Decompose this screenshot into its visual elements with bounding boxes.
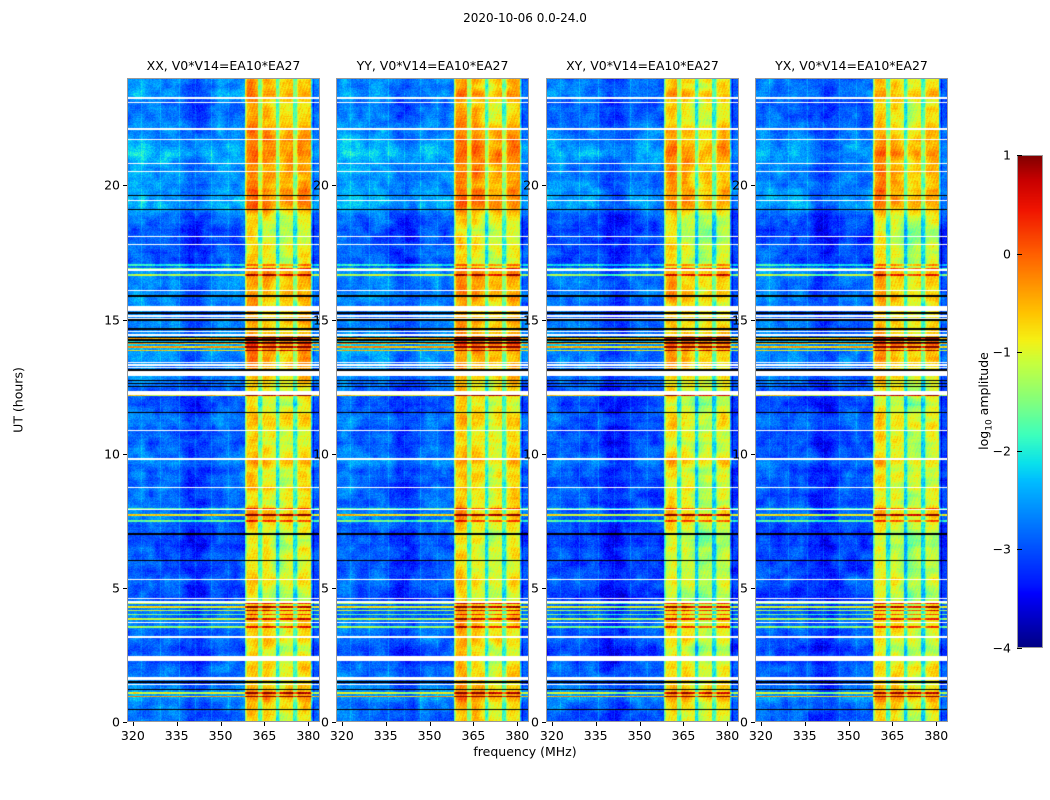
y-tick-label: 20 <box>104 178 120 193</box>
axes-frame <box>127 78 320 722</box>
x-tick-mark <box>221 722 222 726</box>
colorbar-tick-label: −4 <box>993 641 1011 656</box>
figure-canvas: 2020-10-06 0.0-24.0 UT (hours) frequency… <box>0 0 1050 800</box>
x-tick-mark <box>640 722 641 726</box>
y-tick-label: 15 <box>104 312 120 327</box>
panel-xx[interactable]: XX, V0*V14=EA10*EA2732033535036538005101… <box>127 78 320 722</box>
x-tick-mark <box>727 722 728 726</box>
x-tick-mark <box>849 722 850 726</box>
colorbar-tick-label: −3 <box>993 542 1011 557</box>
colorbar-axis-label: log10 amplitude <box>976 352 995 450</box>
y-tick-mark <box>751 320 755 321</box>
y-tick-mark <box>123 722 127 723</box>
y-tick-mark <box>332 454 336 455</box>
x-tick-label: 320 <box>121 728 145 743</box>
panel-yx[interactable]: YX, V0*V14=EA10*EA2732033535036538005101… <box>755 78 948 722</box>
y-tick-mark <box>751 185 755 186</box>
x-tick-label: 350 <box>209 728 233 743</box>
axes-frame <box>755 78 948 722</box>
y-tick-mark <box>332 185 336 186</box>
x-tick-mark <box>133 722 134 726</box>
y-tick-label: 20 <box>732 178 748 193</box>
colorbar-tick-mark <box>1017 254 1022 255</box>
panel-title-yx: YX, V0*V14=EA10*EA27 <box>755 58 948 73</box>
y-tick-mark <box>542 320 546 321</box>
y-tick-mark <box>123 320 127 321</box>
axes-frame <box>546 78 739 722</box>
y-tick-mark <box>751 588 755 589</box>
colorbar-tick-mark <box>1017 352 1022 353</box>
colorbar-tick-label: −1 <box>993 345 1011 360</box>
x-tick-label: 335 <box>584 728 608 743</box>
colorbar-tick-label: −2 <box>993 443 1011 458</box>
panel-title-xy: XY, V0*V14=EA10*EA27 <box>546 58 739 73</box>
y-tick-mark <box>332 320 336 321</box>
axes-frame <box>336 78 529 722</box>
y-tick-mark <box>332 588 336 589</box>
y-tick-label: 10 <box>732 446 748 461</box>
y-tick-label: 15 <box>732 312 748 327</box>
colorbar-tick-mark <box>1017 549 1022 550</box>
panel-title-yy: YY, V0*V14=EA10*EA27 <box>336 58 529 73</box>
y-tick-label: 10 <box>313 446 329 461</box>
y-tick-label: 0 <box>740 715 748 730</box>
y-tick-label: 0 <box>112 715 120 730</box>
colorbar-tick-label: 1 <box>1003 148 1011 163</box>
x-tick-mark <box>596 722 597 726</box>
colorbar-frame <box>1017 155 1043 648</box>
x-tick-label: 335 <box>165 728 189 743</box>
y-tick-label: 0 <box>321 715 329 730</box>
x-tick-mark <box>552 722 553 726</box>
x-tick-label: 350 <box>837 728 861 743</box>
colorbar-label-tail: amplitude <box>976 352 991 419</box>
y-tick-label: 10 <box>523 446 539 461</box>
y-tick-mark <box>542 588 546 589</box>
y-tick-mark <box>542 454 546 455</box>
y-tick-label: 5 <box>740 580 748 595</box>
colorbar-tick-label: 0 <box>1003 246 1011 261</box>
x-tick-label: 350 <box>418 728 442 743</box>
y-tick-label: 5 <box>531 580 539 595</box>
y-tick-mark <box>123 588 127 589</box>
x-tick-mark <box>308 722 309 726</box>
x-tick-label: 335 <box>374 728 398 743</box>
x-tick-label: 320 <box>330 728 354 743</box>
y-tick-label: 5 <box>321 580 329 595</box>
y-tick-label: 0 <box>531 715 539 730</box>
y-tick-mark <box>751 454 755 455</box>
x-tick-label: 365 <box>881 728 905 743</box>
x-tick-mark <box>264 722 265 726</box>
y-tick-mark <box>542 185 546 186</box>
y-tick-label: 20 <box>313 178 329 193</box>
x-tick-mark <box>386 722 387 726</box>
x-tick-label: 380 <box>715 728 739 743</box>
x-tick-label: 350 <box>628 728 652 743</box>
y-tick-label: 15 <box>313 312 329 327</box>
x-tick-label: 380 <box>296 728 320 743</box>
x-tick-mark <box>430 722 431 726</box>
x-tick-mark <box>473 722 474 726</box>
x-tick-label: 380 <box>924 728 948 743</box>
x-tick-mark <box>805 722 806 726</box>
y-tick-mark <box>751 722 755 723</box>
x-tick-mark <box>892 722 893 726</box>
colorbar[interactable]: −4−3−2−101 <box>1017 155 1043 648</box>
colorbar-label-main: log <box>976 431 991 450</box>
y-tick-mark <box>332 722 336 723</box>
x-tick-label: 320 <box>749 728 773 743</box>
x-tick-mark <box>177 722 178 726</box>
x-tick-label: 365 <box>462 728 486 743</box>
y-tick-label: 20 <box>523 178 539 193</box>
x-tick-mark <box>683 722 684 726</box>
colorbar-tick-mark <box>1017 155 1022 156</box>
x-tick-mark <box>761 722 762 726</box>
x-tick-label: 320 <box>540 728 564 743</box>
colorbar-tick-mark <box>1017 648 1022 649</box>
x-tick-label: 335 <box>793 728 817 743</box>
y-tick-label: 10 <box>104 446 120 461</box>
y-tick-label: 15 <box>523 312 539 327</box>
figure-suptitle: 2020-10-06 0.0-24.0 <box>0 11 1050 25</box>
x-axis-label: frequency (MHz) <box>0 744 1050 759</box>
y-tick-label: 5 <box>112 580 120 595</box>
y-tick-mark <box>123 185 127 186</box>
panel-xy[interactable]: XY, V0*V14=EA10*EA2732033535036538005101… <box>546 78 739 722</box>
x-tick-mark <box>936 722 937 726</box>
x-tick-label: 365 <box>672 728 696 743</box>
panel-yy[interactable]: YY, V0*V14=EA10*EA2732033535036538005101… <box>336 78 529 722</box>
x-tick-mark <box>517 722 518 726</box>
x-tick-label: 365 <box>253 728 277 743</box>
y-tick-mark <box>123 454 127 455</box>
y-tick-mark <box>542 722 546 723</box>
x-tick-label: 380 <box>505 728 529 743</box>
colorbar-tick-mark <box>1017 451 1022 452</box>
colorbar-label-sub: 10 <box>984 419 994 430</box>
y-axis-label: UT (hours) <box>11 367 26 433</box>
panel-title-xx: XX, V0*V14=EA10*EA27 <box>127 58 320 73</box>
x-tick-mark <box>342 722 343 726</box>
